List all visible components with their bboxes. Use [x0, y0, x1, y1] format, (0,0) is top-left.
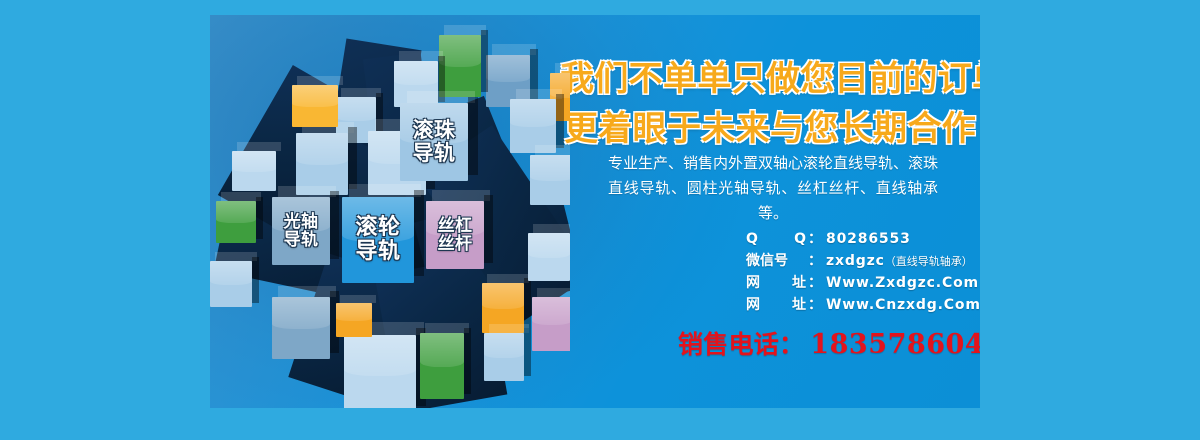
sales-phone-label: 销售电话：: [678, 325, 804, 361]
contact-separator: ：: [808, 250, 826, 270]
contact-value-website-1[interactable]: Www.Zxdgzc.Com: [826, 275, 979, 291]
cube-front-face: [342, 197, 414, 283]
contact-list: Q Q ： 80286553 微信号 ： zxdgzc （直线导轨轴承） 网 址: [746, 228, 980, 316]
cube-side-face: [468, 97, 478, 175]
decor-cube: [216, 201, 256, 243]
cube-top-face: [407, 91, 475, 103]
contact-value-wechat[interactable]: zxdgzc: [826, 253, 885, 269]
cube-front-face: [426, 201, 484, 269]
contact-label-qq: Q Q: [746, 231, 808, 247]
contact-separator: ：: [808, 294, 826, 314]
product-cube-guangzhou-daogui[interactable]: 光轴 导轨: [272, 197, 330, 265]
contact-separator: ：: [808, 272, 826, 292]
headline-line-2: 更着眼于未来与您长期合作: [560, 101, 980, 150]
cube-side-face: [330, 191, 339, 259]
contact-label-website-2: 网 址: [746, 294, 808, 314]
headline-line-1: 我们不单单只做您目前的订单: [560, 51, 980, 100]
business-description: 专业生产、销售内外置双轴心滚轮直线导轨、滚珠直线导轨、圆柱光轴导轨、丝杠丝杆、直…: [608, 151, 938, 225]
decor-cube: [292, 85, 338, 127]
cube-top-face: [349, 184, 421, 197]
decor-cube: [336, 303, 372, 337]
product-cube-gunzhu-daogui[interactable]: 滚珠 导轨: [400, 103, 468, 181]
decor-cube: [439, 35, 481, 97]
decor-cube: [532, 297, 570, 351]
contact-label-wechat: 微信号: [746, 250, 808, 270]
contact-row-website-2: 网 址 ： Www.Cnzxdg.Com: [746, 294, 980, 316]
contact-note-wechat: （直线导轨轴承）: [885, 253, 973, 269]
decor-cube: [232, 151, 276, 191]
contact-value-qq[interactable]: 80286553: [826, 231, 911, 247]
contact-row-wechat: 微信号 ： zxdgzc （直线导轨轴承）: [746, 250, 980, 272]
cube-top-face: [432, 190, 490, 201]
cube-cluster-graphic: 滚珠 导轨 光轴 导轨 滚轮 导: [210, 15, 570, 408]
cube-side-face: [414, 190, 424, 276]
contact-value-website-2[interactable]: Www.Cnzxdg.Com: [826, 297, 980, 313]
decor-cube: [484, 333, 524, 381]
contact-row-qq: Q Q ： 80286553: [746, 228, 980, 250]
product-cube-gunlun-daogui[interactable]: 滚轮 导轨: [342, 197, 414, 283]
contact-label-website-1: 网 址: [746, 272, 808, 292]
decor-cube: [344, 335, 416, 408]
decor-cube: [210, 261, 252, 307]
sales-phone-number[interactable]: 18357860469: [804, 329, 980, 360]
cube-side-face: [484, 195, 493, 263]
promo-banner: 滚珠 导轨 光轴 导轨 滚轮 导: [210, 15, 980, 408]
product-cube-sigang-sigan[interactable]: 丝杠 丝杆: [426, 201, 484, 269]
contact-row-website-1: 网 址 ： Www.Zxdgzc.Com: [746, 272, 980, 294]
decor-cube: [272, 297, 330, 359]
banner-stage: 滚珠 导轨 光轴 导轨 滚轮 导: [0, 0, 1200, 440]
contact-separator: ：: [808, 228, 826, 248]
decor-cube: [530, 155, 570, 205]
banner-copy: 我们不单单只做您目前的订单 更着眼于未来与您长期合作 专业生产、销售内外置双轴心…: [560, 15, 980, 408]
sales-phone[interactable]: 销售电话： 18357860469: [678, 325, 980, 361]
cube-front-face: [400, 103, 468, 181]
cube-front-face: [272, 197, 330, 265]
cube-top-face: [278, 186, 336, 197]
decor-cube: [528, 233, 570, 281]
decor-cube: [420, 333, 464, 399]
